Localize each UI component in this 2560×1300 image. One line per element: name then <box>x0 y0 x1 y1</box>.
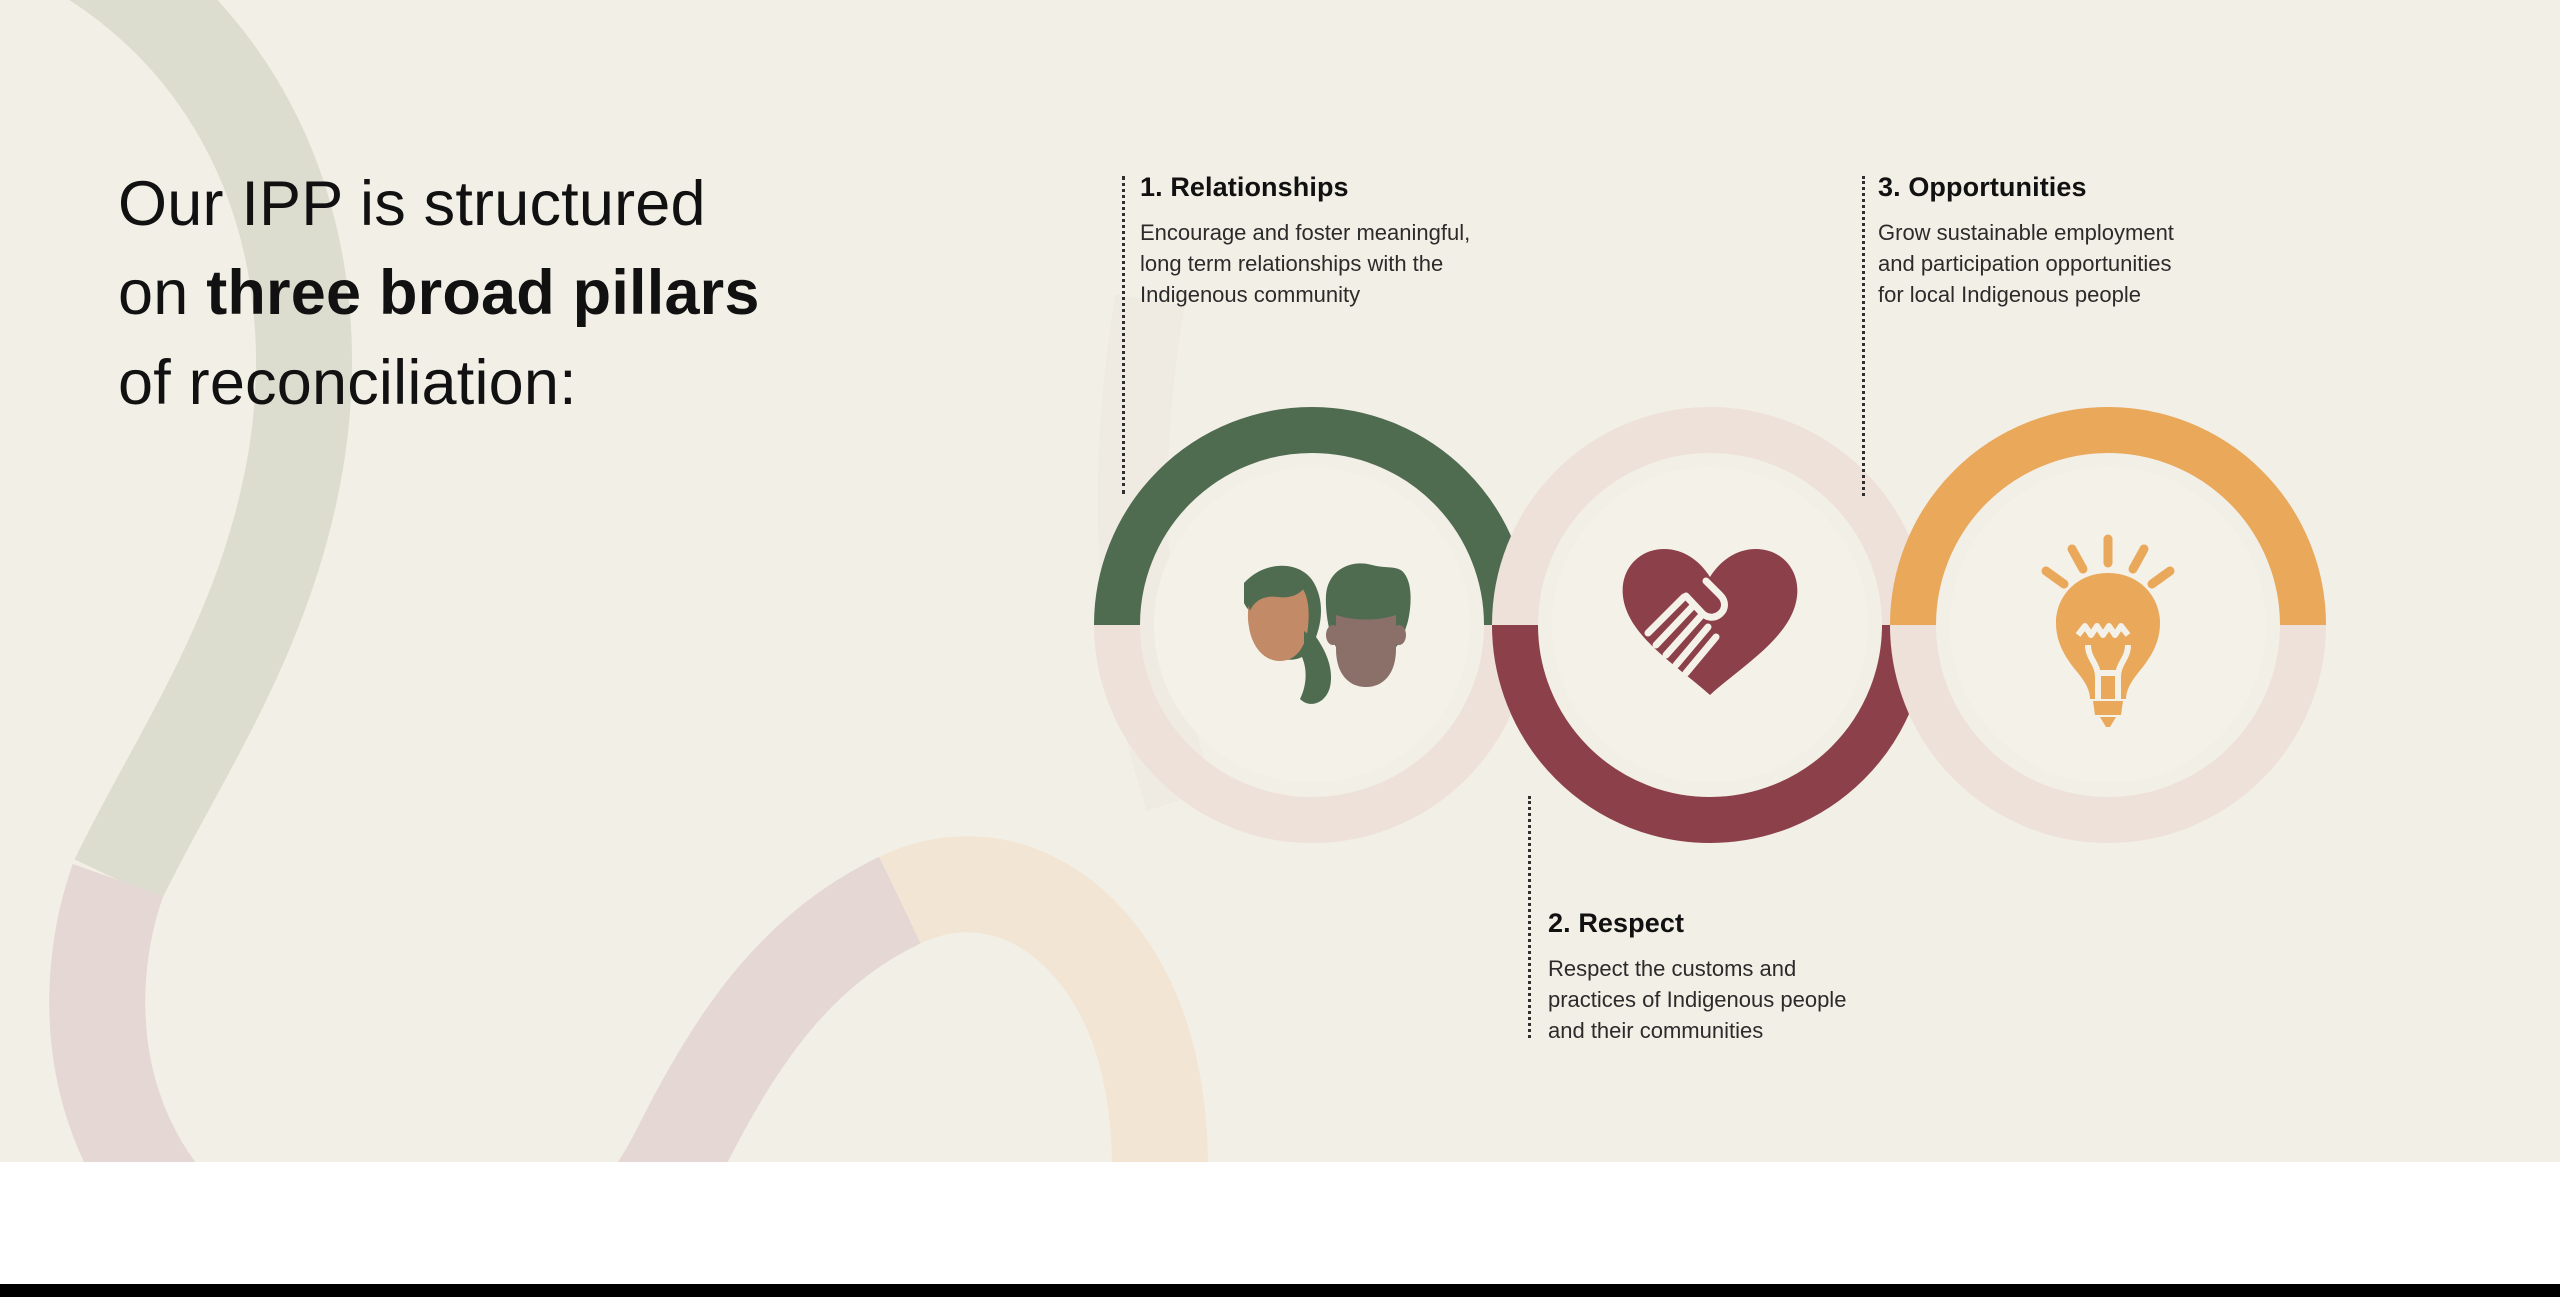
leader-line-pillar-2 <box>1528 796 1531 1038</box>
pillar-3-number: 3. <box>1878 172 1901 202</box>
page-title: Our IPP is structured on three broad pil… <box>118 160 1018 428</box>
slide-canvas: Our IPP is structured on three broad pil… <box>0 0 2560 1162</box>
headline-line-2-bold: three broad pillars <box>206 258 759 328</box>
wave-sage-segment <box>0 0 304 880</box>
pillar-3-description: Grow sustainable employment and particip… <box>1878 217 2318 311</box>
pillar-1-title-text: Relationships <box>1170 172 1348 202</box>
headline-line-1: Our IPP is structured <box>118 160 1018 249</box>
pillar-1-description: Encourage and foster meaningful, long te… <box>1140 217 1580 311</box>
pillar-2-desc-line-2: practices of Indigenous people <box>1548 984 1988 1015</box>
pillar-1-desc-line-3: Indigenous community <box>1140 279 1580 310</box>
pillar-2-description: Respect the customs and practices of Ind… <box>1548 953 1988 1047</box>
pillar-3-desc-line-2: and participation opportunities <box>1878 248 2318 279</box>
pillar-3-desc-line-1: Grow sustainable employment <box>1878 217 2318 248</box>
pillar-callout-opportunities: 3. Opportunities Grow sustainable employ… <box>1878 172 2318 311</box>
headline-line-2-prefix: on <box>118 258 206 328</box>
footer-black-bar <box>0 1284 2560 1297</box>
pillar-2-title: 2. Respect <box>1548 908 1988 939</box>
leader-line-pillar-3 <box>1862 176 1865 496</box>
pillar-2-number: 2. <box>1548 908 1571 938</box>
pillar-callout-respect: 2. Respect Respect the customs and pract… <box>1548 908 1988 1047</box>
pillar-3-title: 3. Opportunities <box>1878 172 2318 203</box>
pillar-ring-relationships <box>1117 430 1507 820</box>
pillar-3-title-text: Opportunities <box>1908 172 2086 202</box>
pillar-1-number: 1. <box>1140 172 1163 202</box>
wave-pink-segment <box>97 880 900 1162</box>
pillar-ring-respect <box>1515 430 1905 820</box>
slide-root: Our IPP is structured on three broad pil… <box>0 0 2560 1300</box>
footer-white-strip <box>0 1162 2560 1284</box>
pillar-1-title: 1. Relationships <box>1140 172 1580 203</box>
pillar-2-title-text: Respect <box>1578 908 1684 938</box>
pillar-2-desc-line-1: Respect the customs and <box>1548 953 1988 984</box>
three-pillars-ring-diagram <box>1060 390 2360 860</box>
headline-line-3: of reconciliation: <box>118 339 1018 428</box>
leader-line-pillar-1 <box>1122 176 1125 494</box>
wave-cream-segment <box>900 884 1160 1162</box>
pillar-1-desc-line-1: Encourage and foster meaningful, <box>1140 217 1580 248</box>
pillar-1-desc-line-2: long term relationships with the <box>1140 248 1580 279</box>
pillar-callout-relationships: 1. Relationships Encourage and foster me… <box>1140 172 1580 311</box>
pillar-2-desc-line-3: and their communities <box>1548 1015 1988 1046</box>
headline-line-2: on three broad pillars <box>118 249 1018 338</box>
pillar-ring-opportunities <box>1913 430 2303 820</box>
pillar-3-desc-line-3: for local Indigenous people <box>1878 279 2318 310</box>
